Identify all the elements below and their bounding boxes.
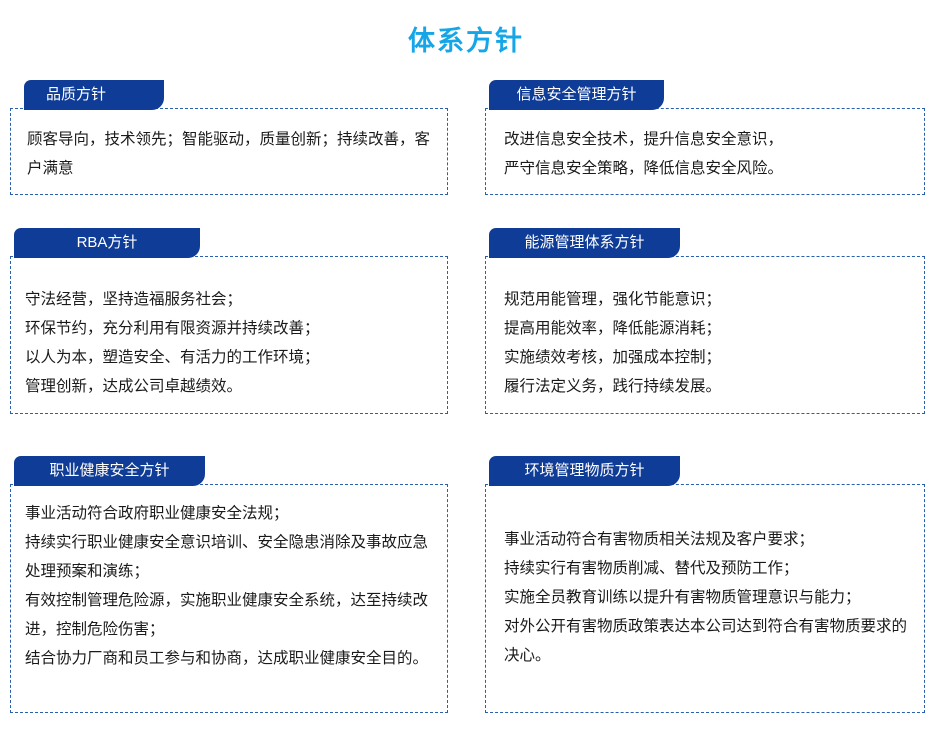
policy-card-infosec-tab: 信息安全管理方针 <box>489 80 664 110</box>
policy-card-environmental-substance-text: 事业活动符合有害物质相关法规及客户要求； 持续实行有害物质削减、替代及预防工作；… <box>504 525 908 670</box>
policy-card-infosec-text: 改进信息安全技术，提升信息安全意识， 严守信息安全策略，降低信息安全风险。 <box>504 125 908 183</box>
policy-card-occupational-health-safety-tab: 职业健康安全方针 <box>14 456 205 486</box>
system-policy-page: 体系方针 品质方针 顾客导向，技术领先；智能驱动，质量创新；持续改善，客户满意 … <box>0 0 932 756</box>
policy-card-energy-body: 规范用能管理，强化节能意识； 提高用能效率，降低能源消耗； 实施绩效考核，加强成… <box>485 256 925 414</box>
policy-card-energy-tab: 能源管理体系方针 <box>489 228 680 258</box>
policy-card-rba-tab: RBA方针 <box>14 228 200 258</box>
policy-card-occupational-health-safety-body: 事业活动符合政府职业健康安全法规； 持续实行职业健康安全意识培训、安全隐患消除及… <box>10 484 448 713</box>
policy-card-rba-text: 守法经营，坚持造福服务社会； 环保节约，充分利用有限资源并持续改善； 以人为本，… <box>25 285 431 401</box>
policy-card-rba-body: 守法经营，坚持造福服务社会； 环保节约，充分利用有限资源并持续改善； 以人为本，… <box>10 256 448 414</box>
policy-card-quality-text: 顾客导向，技术领先；智能驱动，质量创新；持续改善，客户满意 <box>27 125 431 183</box>
policy-card-occupational-health-safety-text: 事业活动符合政府职业健康安全法规； 持续实行职业健康安全意识培训、安全隐患消除及… <box>25 499 431 673</box>
policy-card-environmental-substance-tab: 环境管理物质方针 <box>489 456 680 486</box>
policy-card-environmental-substance-body: 事业活动符合有害物质相关法规及客户要求； 持续实行有害物质削减、替代及预防工作；… <box>485 484 925 713</box>
policy-card-energy-text: 规范用能管理，强化节能意识； 提高用能效率，降低能源消耗； 实施绩效考核，加强成… <box>504 285 908 401</box>
policy-card-infosec-body: 改进信息安全技术，提升信息安全意识， 严守信息安全策略，降低信息安全风险。 <box>485 108 925 195</box>
policy-card-quality-tab: 品质方针 <box>24 80 164 110</box>
policy-card-quality-body: 顾客导向，技术领先；智能驱动，质量创新；持续改善，客户满意 <box>10 108 448 195</box>
page-title: 体系方针 <box>0 24 932 58</box>
